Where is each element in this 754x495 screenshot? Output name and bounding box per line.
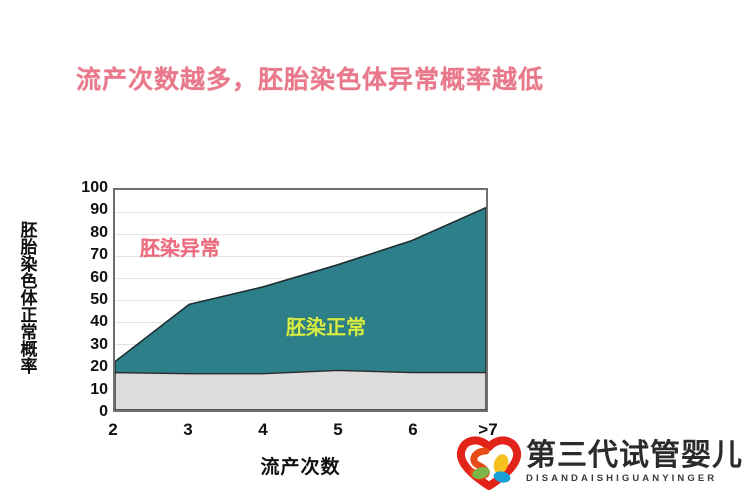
y-tick-label: 80 bbox=[56, 225, 108, 241]
x-tick-label: 3 bbox=[183, 420, 192, 440]
y-tick-label: 90 bbox=[56, 202, 108, 218]
heart-logo-icon bbox=[456, 434, 522, 490]
chart-slide: 流产次数越多，胚胎染色体异常概率越低 胚胎染色体正常概率 10090807060… bbox=[0, 0, 754, 492]
y-tick-label: 30 bbox=[56, 337, 108, 353]
x-axis-title: 流产次数 bbox=[113, 452, 488, 479]
watermark: 第三代试管婴儿 DISANDAISHIGUANYINGER bbox=[456, 432, 754, 492]
x-tick-label: 6 bbox=[408, 420, 417, 440]
y-tick-label: 50 bbox=[56, 292, 108, 308]
y-tick-label: 40 bbox=[56, 314, 108, 330]
y-tick-label: 20 bbox=[56, 359, 108, 375]
x-axis-tick-labels: 23456>7 bbox=[113, 420, 488, 446]
watermark-text: 第三代试管婴儿 DISANDAISHIGUANYINGER bbox=[526, 440, 743, 485]
watermark-title: 第三代试管婴儿 bbox=[526, 440, 743, 472]
plot-area bbox=[113, 188, 488, 412]
watermark-subtitle: DISANDAISHIGUANYINGER bbox=[526, 473, 743, 485]
x-tick-label: 2 bbox=[108, 420, 117, 440]
y-tick-label: 0 bbox=[56, 404, 108, 420]
y-tick-label: 10 bbox=[56, 382, 108, 398]
y-axis-tick-labels: 1009080706050403020100 bbox=[56, 180, 108, 420]
area-chart-svg bbox=[115, 190, 486, 410]
slide-title: 流产次数越多，胚胎染色体异常概率越低 bbox=[0, 60, 620, 96]
x-tick-label: 4 bbox=[258, 420, 267, 440]
x-tick-label: 5 bbox=[333, 420, 342, 440]
normal-area-label: 胚染正常 bbox=[286, 311, 366, 340]
abnormal-area-label: 胚染异常 bbox=[140, 232, 220, 261]
y-tick-label: 70 bbox=[56, 247, 108, 263]
y-tick-label: 100 bbox=[56, 180, 108, 196]
y-tick-label: 60 bbox=[56, 270, 108, 286]
y-axis-title: 胚胎染色体正常概率 bbox=[10, 168, 44, 426]
baseline-area-series bbox=[115, 370, 486, 410]
